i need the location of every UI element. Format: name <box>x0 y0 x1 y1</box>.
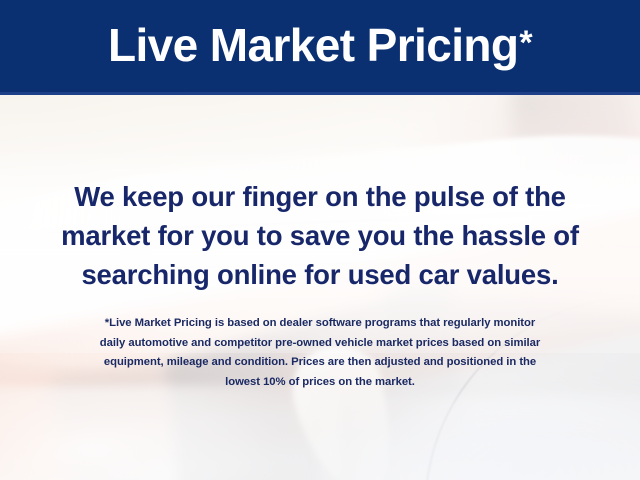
header-accent-line <box>0 92 640 95</box>
fineprint-line: *Live Market Pricing is based on dealer … <box>32 314 608 334</box>
fineprint-line: equipment, mileage and condition. Prices… <box>32 353 608 373</box>
headline-line: searching online for used car values. <box>0 255 640 294</box>
headline-line: market for you to save you the hassle of <box>0 216 640 255</box>
fineprint-disclaimer: *Live Market Pricing is based on dealer … <box>32 314 608 392</box>
headline: We keep our finger on the pulse of the m… <box>0 177 640 294</box>
fineprint-line: lowest 10% of prices on the market. <box>32 373 608 393</box>
page-title: Live Market Pricing* <box>0 0 640 92</box>
live-market-pricing-banner: Live Market Pricing* We keep our finger … <box>0 0 640 480</box>
fineprint-line: daily automotive and competitor pre-owne… <box>32 334 608 354</box>
page-title-text: Live Market Pricing <box>108 22 518 68</box>
headline-line: We keep our finger on the pulse of the <box>0 177 640 216</box>
body-content: We keep our finger on the pulse of the m… <box>0 95 640 480</box>
